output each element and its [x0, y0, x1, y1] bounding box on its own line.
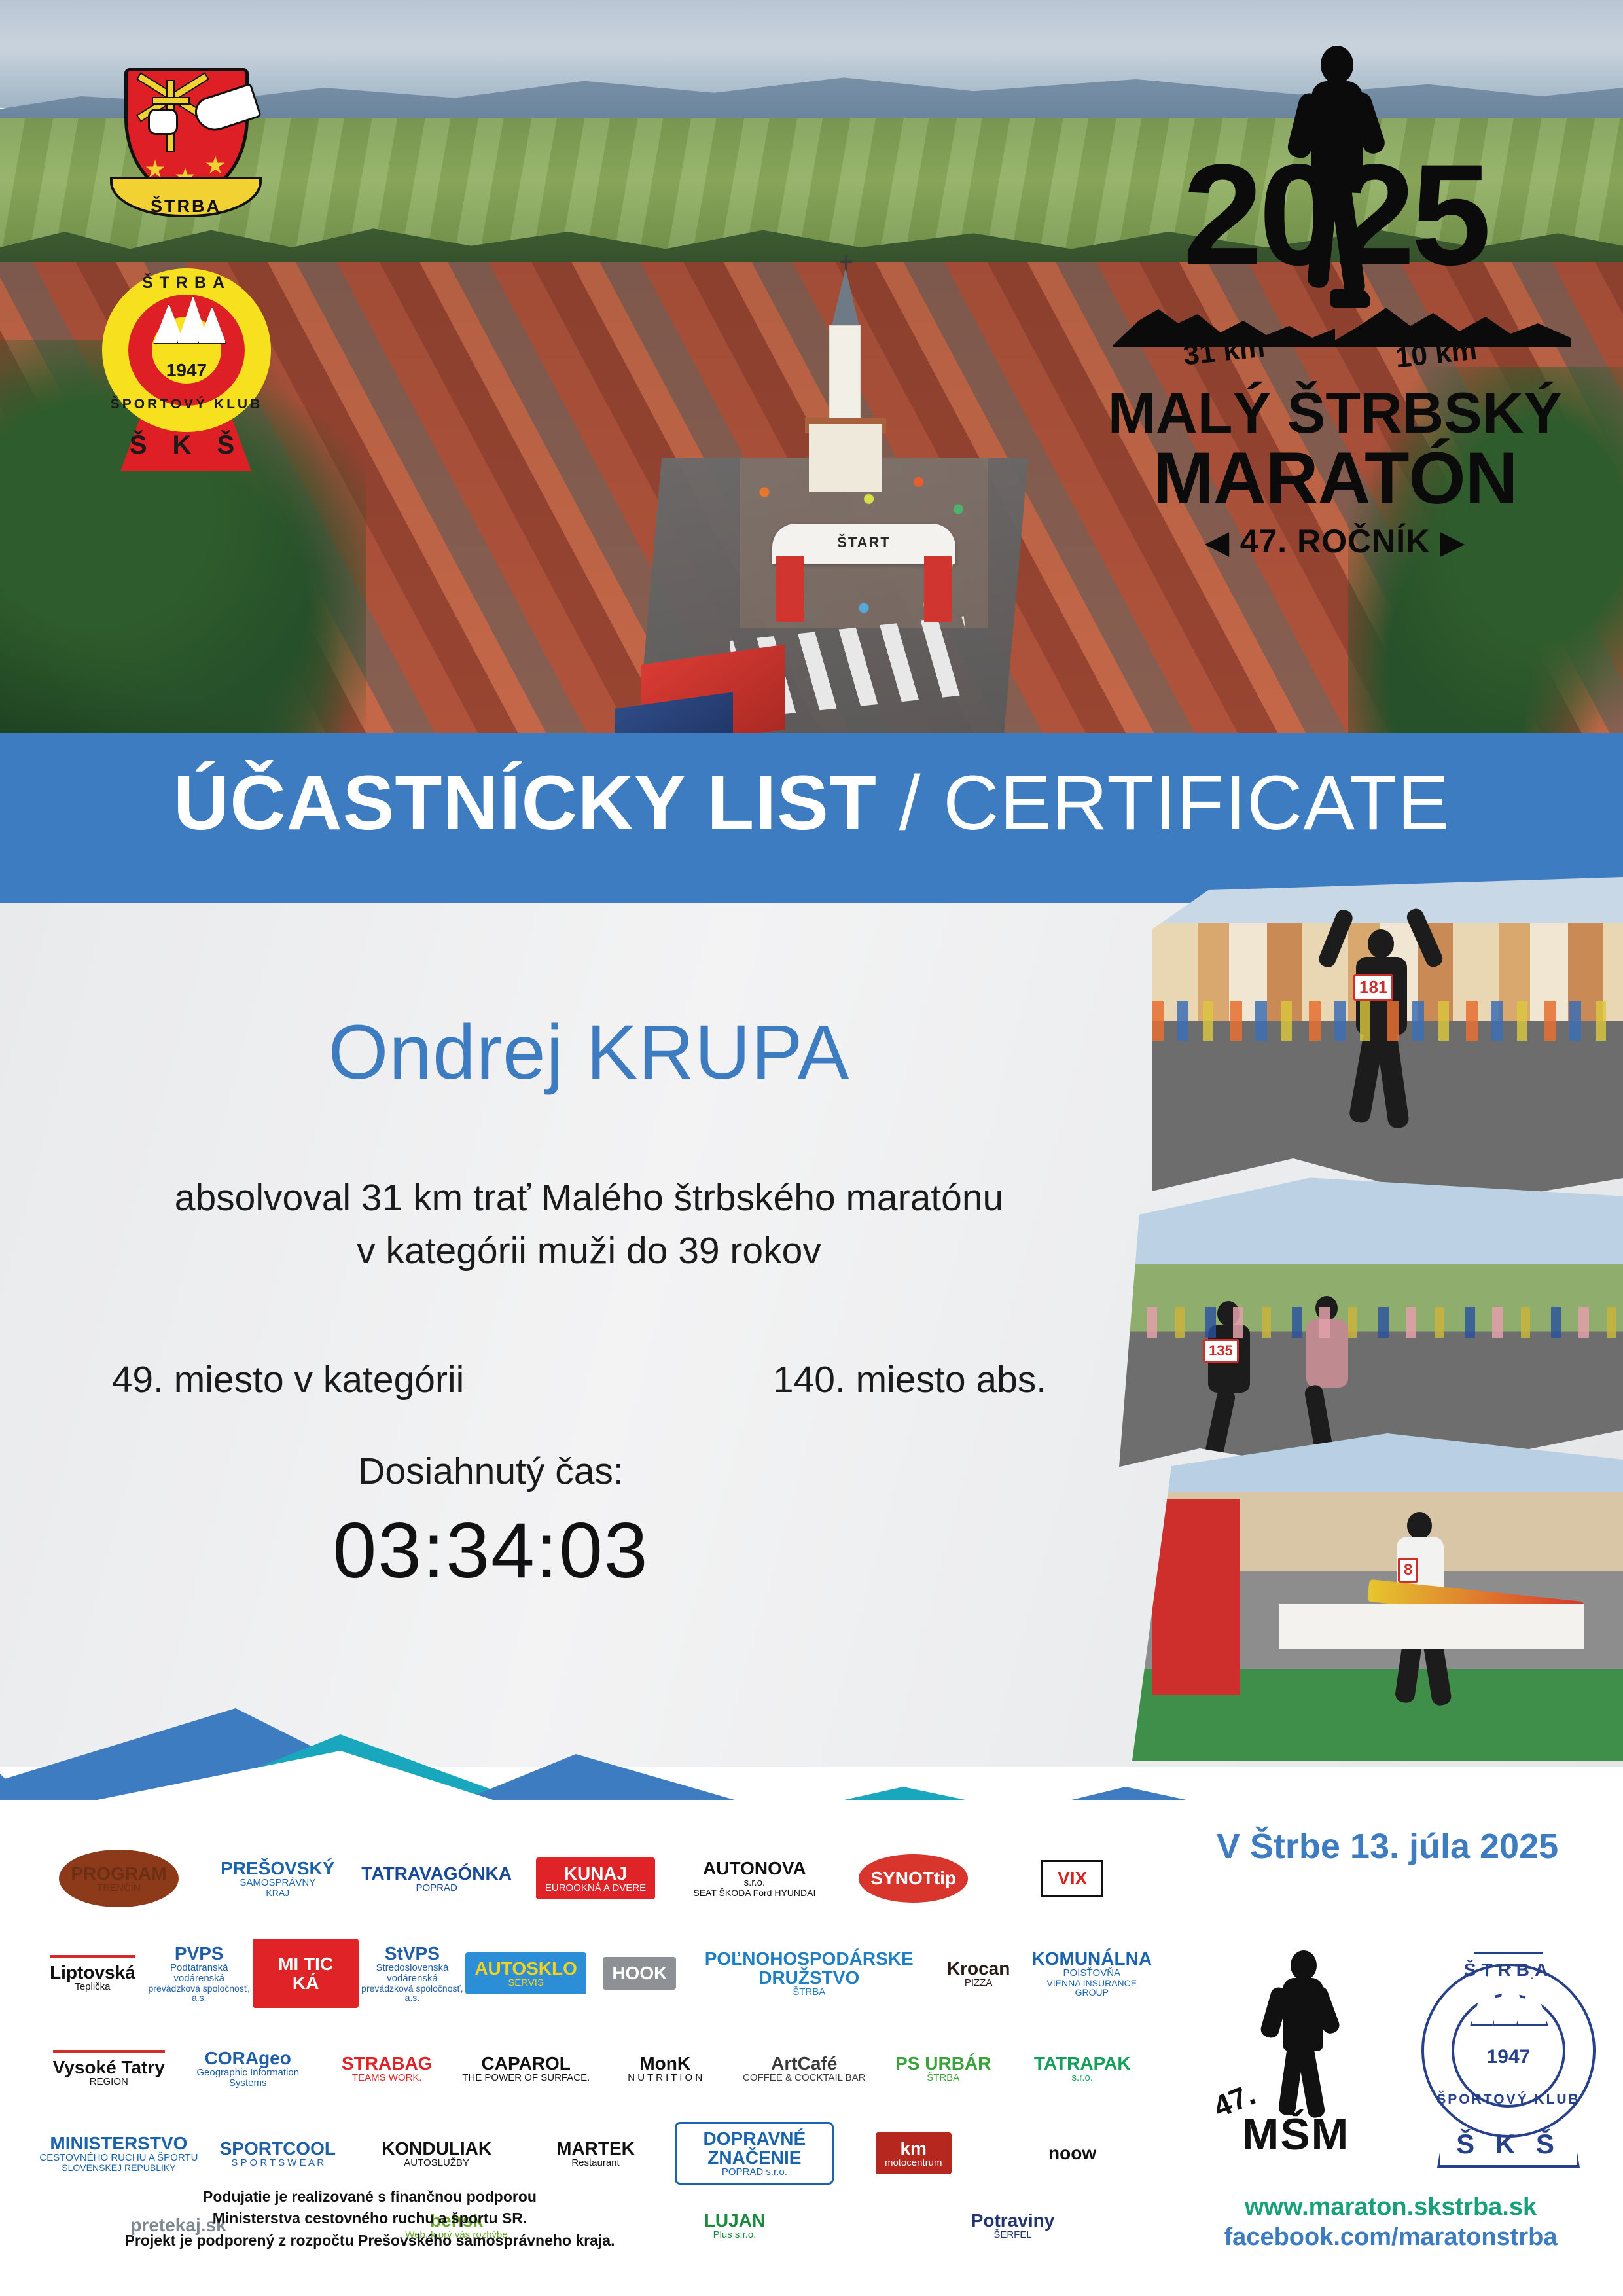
- sponsor-logo-strabag: STRABAGTEAMS WORK.: [317, 2029, 457, 2108]
- sponsor-name: PROGRAM: [71, 1864, 166, 1883]
- coa-municipality-label: ŠTRBA: [110, 196, 262, 217]
- sponsor-label-tatravagonka-poprad: TATRAVAGÓNKAPOPRAD: [361, 1864, 512, 1893]
- sponsor-tagline: N U T R I T I O N: [628, 2073, 702, 2083]
- hero-photo-banner: ŠTART ŠTRBA: [0, 0, 1623, 772]
- sks-abbr-label: Š K Š: [98, 431, 275, 460]
- sponsor-logo-stvps: StVPSStredoslovenská vodárenskáprevádzko…: [359, 1934, 465, 2013]
- runners-hill-photo: 135: [1119, 1172, 1623, 1479]
- participant-name: Ondrej KRUPA: [79, 1008, 1099, 1097]
- photo-collage: 181 135 8: [1113, 870, 1623, 1761]
- sponsor-tagline: CESTOVNÉHO RUCHU A ŠPORTU: [39, 2153, 198, 2163]
- sponsor-name: SPORTCOOL: [220, 2139, 336, 2158]
- sks-year-label: 1947: [98, 360, 275, 381]
- sponsor-label-pvps: PVPSPodtatranská vodárenskáprevádzková s…: [146, 1944, 253, 2002]
- sponsor-tagline-2: VIENNA INSURANCE GROUP: [1032, 1979, 1152, 1998]
- sks-stamp-mid-label: ŠPORTOVÝ KLUB: [1407, 2092, 1610, 2108]
- hill-runner1-head: [1217, 1301, 1240, 1326]
- time-label: Dosiahnutý čas:: [196, 1450, 785, 1493]
- sponsor-name: DOPRAVNÉ ZNAČENIE: [685, 2129, 824, 2167]
- sponsor-name: SYNOTtip: [870, 1869, 956, 1888]
- runner-head: [1321, 46, 1353, 84]
- hill-runner2-head: [1315, 1296, 1338, 1321]
- sponsor-name: AUTONOVA: [693, 1859, 815, 1878]
- sponsor-logo-km-motocentrum: kmmotocentrum: [834, 2114, 993, 2193]
- title-separator: /: [877, 760, 943, 846]
- sks-stamp-icon: ŠTRBA 1947 ŠPORTOVÝ KLUB Š K Š: [1407, 1937, 1610, 2186]
- sponsor-name: HOOK: [612, 1964, 667, 1982]
- event-edition: ◀47. ROČNÍK▶: [1073, 522, 1597, 560]
- sponsor-logo-martek-restaurant: MARTEKRestaurant: [516, 2114, 675, 2193]
- sponsor-grid: PROGRAMTRENČÍNPREŠOVSKÝSAMOSPRÁVNYKRAJTA…: [39, 1813, 1152, 2206]
- sponsor-name: PVPS: [146, 1944, 253, 1963]
- sponsor-tagline: AUTOSLUŽBY: [382, 2158, 491, 2168]
- description-line-1: absolvoval 31 km trať Malého štrbského m…: [79, 1172, 1099, 1225]
- absolute-placement: 140. miesto abs.: [707, 1358, 1113, 1401]
- sponsor-tagline-2: SEAT ŠKODA Ford HYUNDAI: [693, 1888, 815, 1898]
- website-link[interactable]: www.maraton.skstrba.sk: [1178, 2193, 1603, 2223]
- sponsor-tagline: POPRAD: [361, 1883, 512, 1893]
- sponsor-tagline: Plus s.r.o.: [704, 2230, 765, 2240]
- arch-label: ŠTART: [772, 534, 955, 551]
- arch-leg-right: [924, 556, 952, 622]
- sponsor-row: LiptovskáTepličkaPVPSPodtatranská vodáre…: [39, 1934, 1152, 2013]
- sks-top-label: ŠTRBA: [98, 274, 275, 293]
- sponsor-label-vysoke-tatry-region: Vysoké TatryREGION: [53, 2050, 165, 2087]
- finisher-head: [1368, 929, 1394, 958]
- sponsor-name: TATRAPAK: [1034, 2054, 1131, 2073]
- sponsor-label-vix: VIX: [1041, 1860, 1103, 1896]
- sponsor-tagline-2: SLOVENSKEJ REPUBLIKY: [39, 2163, 198, 2173]
- msm-runner-figure: [1267, 1950, 1339, 2114]
- start-arch: ŠTART: [772, 524, 955, 622]
- sponsor-label-martek-restaurant: MARTEKRestaurant: [556, 2139, 635, 2168]
- sponsor-name: Vysoké Tatry: [53, 2058, 165, 2077]
- arch-leg-left: [776, 556, 804, 622]
- sponsor-logo-ministerstvo-sport: MINISTERSTVOCESTOVNÉHO RUCHU A ŠPORTUSLO…: [39, 2114, 198, 2193]
- sponsor-name: CAPAROL: [462, 2054, 590, 2073]
- support-note-line-3: Projekt je podporený z rozpočtu Prešovsk…: [46, 2230, 694, 2251]
- msm-logo-icon: 47. MŠM: [1211, 1944, 1381, 2179]
- finisher-arm-right: [1404, 906, 1445, 969]
- sponsor-logo-presovsky-kraj: PREŠOVSKÝSAMOSPRÁVNYKRAJ: [198, 1839, 357, 1918]
- facebook-link[interactable]: facebook.com/maratonstrba: [1178, 2223, 1603, 2253]
- sponsor-tagline: TRENČÍN: [71, 1883, 166, 1893]
- sponsor-tagline: THE POWER OF SURFACE.: [462, 2073, 590, 2083]
- sponsor-tagline: s.r.o.: [1034, 2073, 1131, 2083]
- sponsor-tagline-2: KRAJ: [221, 1888, 334, 1898]
- description-line-2: v kategórii muži do 39 rokov: [79, 1225, 1099, 1278]
- certificate-title: ÚČASTNÍCKY LIST / CERTIFICATE: [0, 764, 1623, 842]
- sponsor-logo-liptovska-teplicka: LiptovskáTeplička: [39, 1934, 146, 2013]
- sponsor-logo-pd-strba: POĽNOHOSPODÁRSKE DRUŽSTVOŠTRBA: [693, 1934, 925, 2013]
- sponsor-name: LUJAN: [704, 2211, 765, 2230]
- edition-label: 47. ROČNÍK: [1240, 523, 1431, 560]
- sponsor-logo-krocan-pizza: KrocanPIZZA: [925, 1934, 1032, 2013]
- sponsor-label-autonova: AUTONOVAs.r.o.SEAT ŠKODA Ford HYUNDAI: [693, 1859, 815, 1897]
- sponsor-label-kunaj: KUNAJEUROOKNÁ A DVERE: [536, 1857, 655, 1900]
- sponsor-name: Krocan: [947, 1959, 1010, 1978]
- sponsor-label-caparol: CAPAROLTHE POWER OF SURFACE.: [462, 2054, 590, 2083]
- winner-bib-number: 8: [1398, 1558, 1418, 1583]
- event-logo: 2025 31 km 10 km MA: [1073, 39, 1597, 602]
- sponsor-label-liptovska-teplicka: LiptovskáTeplička: [50, 1955, 135, 1992]
- support-note-line-1: Podujatie je realizované s finančnou pod…: [46, 2186, 694, 2208]
- finisher-leg-right: [1376, 1030, 1410, 1130]
- sponsor-logo-artcafe: ArtCaféCOFFEE & COCKTAIL BAR: [735, 2029, 874, 2108]
- sponsor-label-autosklo-servis: AUTOSKLOSERVIS: [465, 1952, 586, 1995]
- church-nave: [809, 424, 882, 492]
- edition-arrow-left-icon: ◀: [1195, 525, 1240, 559]
- sponsor-tagline: ŠTRBA: [705, 1987, 914, 1998]
- church-building: [805, 268, 883, 491]
- sponsor-label-dopravne-znacenie-poprad: DOPRAVNÉ ZNAČENIEPOPRAD s.r.o.: [675, 2122, 834, 2185]
- sponsor-tagline: SAMOSPRÁVNY: [221, 1878, 334, 1888]
- sponsor-tagline: POPRAD s.r.o.: [685, 2167, 824, 2178]
- sponsor-logo-miticka: MI TIC KÁ: [253, 1934, 359, 2013]
- sponsor-name: PS URBÁR: [895, 2054, 991, 2073]
- sponsor-tagline: ŠTRBA: [895, 2073, 991, 2083]
- sponsor-tagline: POISŤOVŇA: [1032, 1968, 1152, 1979]
- sponsor-tagline: Teplička: [50, 1982, 135, 1992]
- sponsor-row: MINISTERSTVOCESTOVNÉHO RUCHU A ŠPORTUSLO…: [39, 2114, 1152, 2193]
- sponsor-name: km: [885, 2139, 942, 2158]
- sponsor-tagline: Restaurant: [556, 2158, 635, 2168]
- sponsor-label-corageo: CORAgeoGeographic Information Systems: [179, 2049, 318, 2088]
- sponsor-name: MINISTERSTVO: [39, 2134, 198, 2153]
- sponsor-logo-vysoke-tatry-region: Vysoké TatryREGION: [39, 2029, 179, 2108]
- sponsor-label-km-motocentrum: kmmotocentrum: [876, 2132, 952, 2175]
- sponsor-name: noow: [1048, 2144, 1096, 2162]
- church-cross-horizontal: [840, 260, 852, 263]
- sponsor-label-ps-urbar-strba: PS URBÁRŠTRBA: [895, 2054, 991, 2083]
- sponsor-name: VIX: [1058, 1869, 1087, 1888]
- sponsor-label-lujan-plus: LUJANPlus s.r.o.: [704, 2211, 765, 2240]
- certificate-page: ŠTART ŠTRBA: [0, 0, 1623, 2296]
- runner-torso: [1311, 81, 1363, 179]
- finisher-woman-photo: 181: [1152, 877, 1623, 1204]
- sponsor-logo-komunalna-poistovna: KOMUNÁLNAPOISŤOVŇAVIENNA INSURANCE GROUP: [1032, 1934, 1152, 2013]
- sponsor-label-stvps: StVPSStredoslovenská vodárenskáprevádzko…: [359, 1944, 465, 2002]
- sponsor-name: AUTOSKLO: [474, 1959, 577, 1978]
- sponsor-logo-konduliak: KONDULIAKAUTOSLUŽBY: [357, 2114, 516, 2193]
- sponsor-logo-corageo: CORAgeoGeographic Information Systems: [179, 2029, 318, 2108]
- sponsor-name: MonK: [628, 2054, 702, 2073]
- edition-arrow-right-icon: ▶: [1430, 525, 1474, 559]
- sponsor-tagline: REGION: [53, 2077, 165, 2087]
- sponsor-logo-vix: VIX: [993, 1839, 1152, 1918]
- sponsor-logo-dopravne-znacenie-poprad: DOPRAVNÉ ZNAČENIEPOPRAD s.r.o.: [675, 2114, 834, 2193]
- sponsor-tagline-2: prevádzková spoločnosť, a.s.: [359, 1984, 465, 2003]
- sponsor-logo-program-trencin: PROGRAMTRENČÍN: [39, 1839, 198, 1918]
- sponsor-logo-monk-nutrition: MonKN U T R I T I O N: [596, 2029, 735, 2108]
- hill-runner2-torso: [1306, 1319, 1348, 1388]
- sponsor-name: ArtCafé: [743, 2054, 866, 2073]
- coa-fist: [148, 109, 178, 135]
- sponsor-name: MARTEK: [556, 2139, 635, 2158]
- sponsor-label-presovsky-kraj: PREŠOVSKÝSAMOSPRÁVNYKRAJ: [221, 1859, 334, 1897]
- sponsor-logo-kunaj: KUNAJEUROOKNÁ A DVERE: [516, 1839, 675, 1918]
- title-english: CERTIFICATE: [943, 760, 1450, 846]
- msm-runner-head: [1291, 1950, 1317, 1981]
- sponsor-name: TATRAVAGÓNKA: [361, 1864, 512, 1883]
- sponsor-name: STRABAG: [342, 2054, 432, 2073]
- sponsor-logo-tatravagonka-poprad: TATRAVAGÓNKAPOPRAD: [357, 1839, 516, 1918]
- strba-coat-of-arms-icon: ŠTRBA: [110, 68, 262, 232]
- footer: PROGRAMTRENČÍNPREŠOVSKÝSAMOSPRÁVNYKRAJTA…: [0, 1800, 1623, 2296]
- sponsor-label-komunalna-poistovna: KOMUNÁLNAPOISŤOVŇAVIENNA INSURANCE GROUP: [1032, 1949, 1152, 1998]
- sponsor-name: KONDULIAK: [382, 2139, 491, 2158]
- sponsor-label-pd-strba: POĽNOHOSPODÁRSKE DRUŽSTVOŠTRBA: [693, 1935, 925, 2012]
- runner-silhouette-icon: [1296, 46, 1381, 321]
- certificate-description: absolvoval 31 km trať Malého štrbského m…: [79, 1172, 1099, 1278]
- sponsor-logo-ps-urbar-strba: PS URBÁRŠTRBA: [874, 2029, 1013, 2108]
- footer-links: www.maraton.skstrba.sk facebook.com/mara…: [1178, 2193, 1603, 2252]
- sponsor-tagline: EUROOKNÁ A DVERE: [545, 1883, 646, 1893]
- sks-bottom-label: ŠPORTOVÝ KLUB: [98, 397, 275, 412]
- sponsor-logo-pvps: PVPSPodtatranská vodárenskáprevádzková s…: [146, 1934, 253, 2013]
- title-slovak: ÚČASTNÍCKY LIST: [173, 760, 877, 846]
- sponsor-tagline: Stredoslovenská vodárenská: [359, 1963, 465, 1983]
- sponsor-label-hook: HOOK: [603, 1957, 676, 1989]
- sponsor-label-artcafe: ArtCaféCOFFEE & COCKTAIL BAR: [743, 2054, 866, 2083]
- issue-date: V Štrbe 13. júla 2025: [1178, 1826, 1597, 1867]
- sponsor-name: PREŠOVSKÝ: [221, 1859, 334, 1878]
- msm-runner-body: [1283, 1978, 1323, 2051]
- sponsor-name: KOMUNÁLNA: [1032, 1949, 1152, 1968]
- finish-tape: [1367, 1579, 1584, 1624]
- sponsor-label-tatrapak: TATRAPAKs.r.o.: [1034, 2054, 1131, 2083]
- hill-runner-bib-number: 135: [1203, 1339, 1239, 1363]
- sponsor-logo-potraviny-serfel: PotravinyŠERFEL: [874, 2186, 1152, 2265]
- sponsor-label-monk-nutrition: MonKN U T R I T I O N: [628, 2054, 702, 2083]
- sks-stamp-year: 1947: [1407, 2046, 1610, 2068]
- msm-runner-leg-right: [1296, 2041, 1326, 2119]
- sponsor-label-noow: noow: [1048, 2144, 1096, 2162]
- sponsor-name: MI TIC KÁ: [263, 1954, 349, 1992]
- sponsor-row: Vysoké TatryREGIONCORAgeoGeographic Info…: [39, 2029, 1152, 2108]
- winner-head: [1407, 1512, 1432, 1539]
- church-spire: [831, 268, 860, 329]
- sponsor-label-ministerstvo-sport: MINISTERSTVOCESTOVNÉHO RUCHU A ŠPORTUSLO…: [39, 2134, 198, 2172]
- sponsor-logo-autonova: AUTONOVAs.r.o.SEAT ŠKODA Ford HYUNDAI: [675, 1839, 834, 1918]
- finish-time-value: 03:34:03: [196, 1505, 785, 1596]
- finisher-bib-number: 181: [1353, 974, 1393, 1001]
- sponsor-tagline: S P O R T S W E A R: [220, 2158, 336, 2168]
- sponsor-label-synottip: SYNOTtip: [859, 1854, 968, 1902]
- sponsor-label-strabag: STRABAGTEAMS WORK.: [342, 2054, 432, 2083]
- sponsor-logo-caparol: CAPAROLTHE POWER OF SURFACE.: [457, 2029, 596, 2108]
- sponsor-tagline: motocentrum: [885, 2158, 942, 2168]
- sponsor-label-konduliak: KONDULIAKAUTOSLUŽBY: [382, 2139, 491, 2168]
- sponsor-tagline: TEAMS WORK.: [342, 2073, 432, 2083]
- sponsor-label-program-trencin: PROGRAMTRENČÍN: [59, 1850, 178, 1908]
- sponsor-tagline: Podtatranská vodárenská: [146, 1963, 253, 1983]
- sponsor-logo-synottip: SYNOTtip: [834, 1839, 993, 1918]
- support-note-line-2: Ministerstva cestovného ruchu a športu S…: [46, 2208, 694, 2229]
- sponsor-tagline: Geographic Information Systems: [179, 2068, 318, 2088]
- sponsor-tagline: PIZZA: [947, 1978, 1010, 1988]
- category-placement: 49. miesto v kategórii: [85, 1358, 491, 1401]
- sponsor-tagline: s.r.o.: [693, 1878, 815, 1888]
- sponsor-tagline: ŠERFEL: [971, 2230, 1055, 2240]
- sponsor-name: Liptovská: [50, 1963, 135, 1982]
- coa-bar-4: [152, 97, 190, 105]
- hill-runner1-leg: [1204, 1388, 1237, 1463]
- sponsor-label-krocan-pizza: KrocanPIZZA: [935, 1945, 1022, 2003]
- sponsor-logo-autosklo-servis: AUTOSKLOSERVIS: [465, 1934, 586, 2013]
- sponsor-name: Potraviny: [971, 2211, 1055, 2230]
- sponsor-name: POĽNOHOSPODÁRSKE DRUŽSTVO: [705, 1949, 914, 1987]
- organiser-marks: 47. MŠM ŠTRBA 1947 ŠPORTOVÝ KLUB Š K Š: [1204, 1937, 1610, 2186]
- sponsor-tagline-2: prevádzková spoločnosť, a.s.: [146, 1984, 253, 2003]
- support-note: Podujatie je realizované s finančnou pod…: [46, 2186, 694, 2251]
- sponsor-row: PROGRAMTRENČÍNPREŠOVSKÝSAMOSPRÁVNYKRAJTA…: [39, 1839, 1152, 1918]
- sks-club-logo-icon: ŠTRBA 1947 ŠPORTOVÝ KLUB Š K Š: [98, 262, 275, 473]
- sponsor-logo-tatrapak: TATRAPAKs.r.o.: [1013, 2029, 1152, 2108]
- sponsor-name: KUNAJ: [545, 1864, 646, 1883]
- sponsor-label-sportcool: SPORTCOOLS P O R T S W E A R: [220, 2139, 336, 2168]
- sks-stamp-abbr: Š K Š: [1407, 2128, 1610, 2160]
- sponsor-logo-hook: HOOK: [586, 1934, 693, 2013]
- sks-stamp-top-label: ŠTRBA: [1407, 1960, 1610, 1981]
- sponsor-tagline: COFFEE & COCKTAIL BAR: [743, 2073, 866, 2083]
- sponsor-tagline: SERVIS: [474, 1978, 577, 1988]
- sponsor-label-miticka: MI TIC KÁ: [253, 1939, 359, 2008]
- finisher-arm-left: [1317, 907, 1355, 969]
- sponsor-label-potraviny-serfel: PotravinyŠERFEL: [971, 2211, 1055, 2240]
- sponsor-name: CORAgeo: [179, 2049, 318, 2068]
- sponsor-name: StVPS: [359, 1944, 465, 1963]
- msm-abbreviation: MŠM: [1211, 2109, 1381, 2160]
- sponsor-logo-noow: noow: [993, 2114, 1152, 2193]
- event-title-line2: MARATÓN: [1073, 436, 1597, 520]
- sponsor-logo-sportcool: SPORTCOOLS P O R T S W E A R: [198, 2114, 357, 2193]
